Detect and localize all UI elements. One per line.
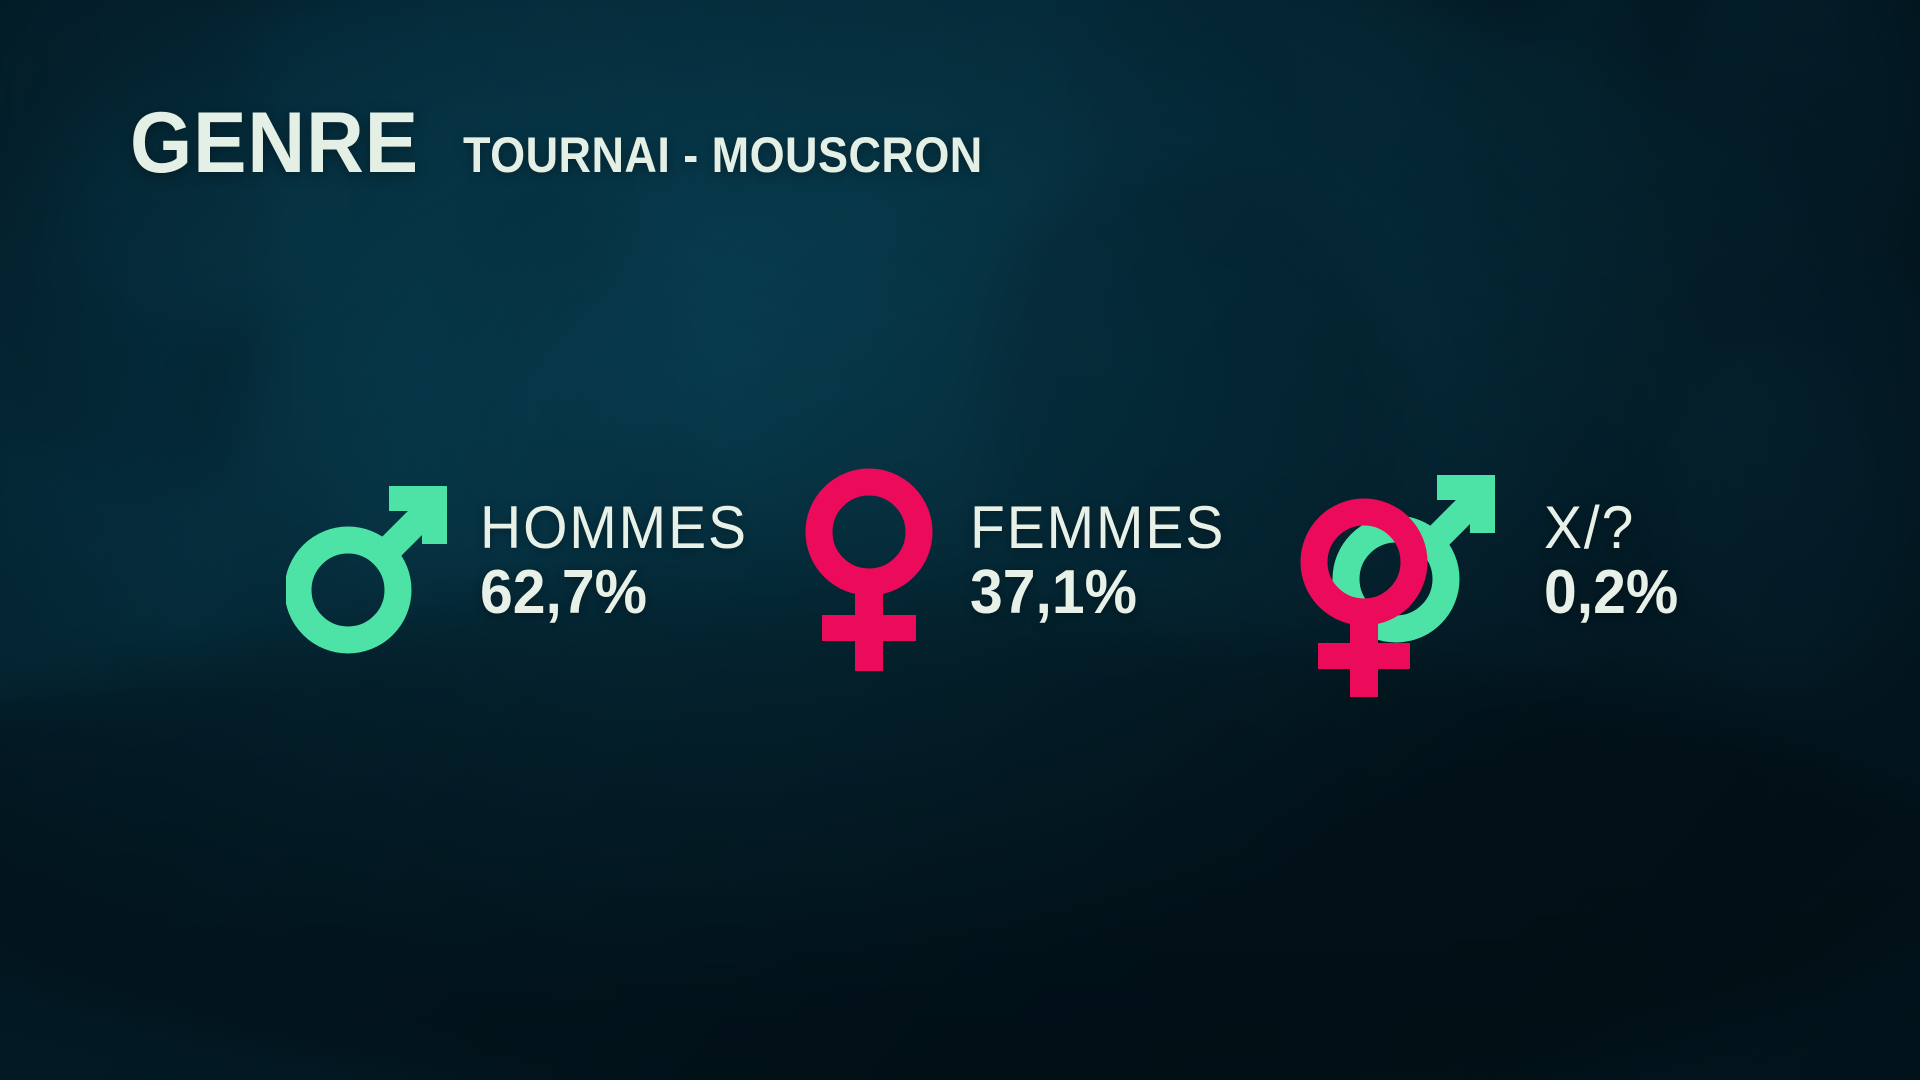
female-gender-symbol-icon	[794, 467, 944, 673]
infographic-slide: GENRE TOURNAI - MOUSCRON HOMMES 62,7%	[0, 0, 1920, 1080]
stat-value-other: 0,2%	[1544, 560, 1678, 625]
title-text: GENRE	[130, 104, 419, 183]
stat-labels-hommes: HOMMES 62,7%	[480, 498, 762, 625]
stat-labels-femmes: FEMMES 37,1%	[970, 498, 1239, 625]
stat-labels-other: X/? 0,2%	[1544, 498, 1685, 625]
page-title: GENRE TOURNAI - MOUSCRON	[130, 104, 1040, 183]
stat-item-other: X/? 0,2%	[1300, 432, 1685, 692]
combined-gender-symbol-icon	[1300, 457, 1512, 697]
male-gender-symbol-icon	[286, 473, 454, 655]
stat-label-femmes: FEMMES	[970, 498, 1225, 558]
stat-value-femmes: 37,1%	[970, 560, 1225, 625]
stat-label-hommes: HOMMES	[480, 498, 748, 558]
stat-value-hommes: 62,7%	[480, 560, 748, 625]
stat-item-hommes: HOMMES 62,7%	[286, 432, 794, 692]
gender-statistics-row: HOMMES 62,7% FEMMES 37,1%	[0, 432, 1920, 692]
stat-item-femmes: FEMMES 37,1%	[794, 432, 1300, 692]
stat-label-other: X/?	[1544, 498, 1678, 558]
subtitle-text: TOURNAI - MOUSCRON	[463, 130, 983, 180]
